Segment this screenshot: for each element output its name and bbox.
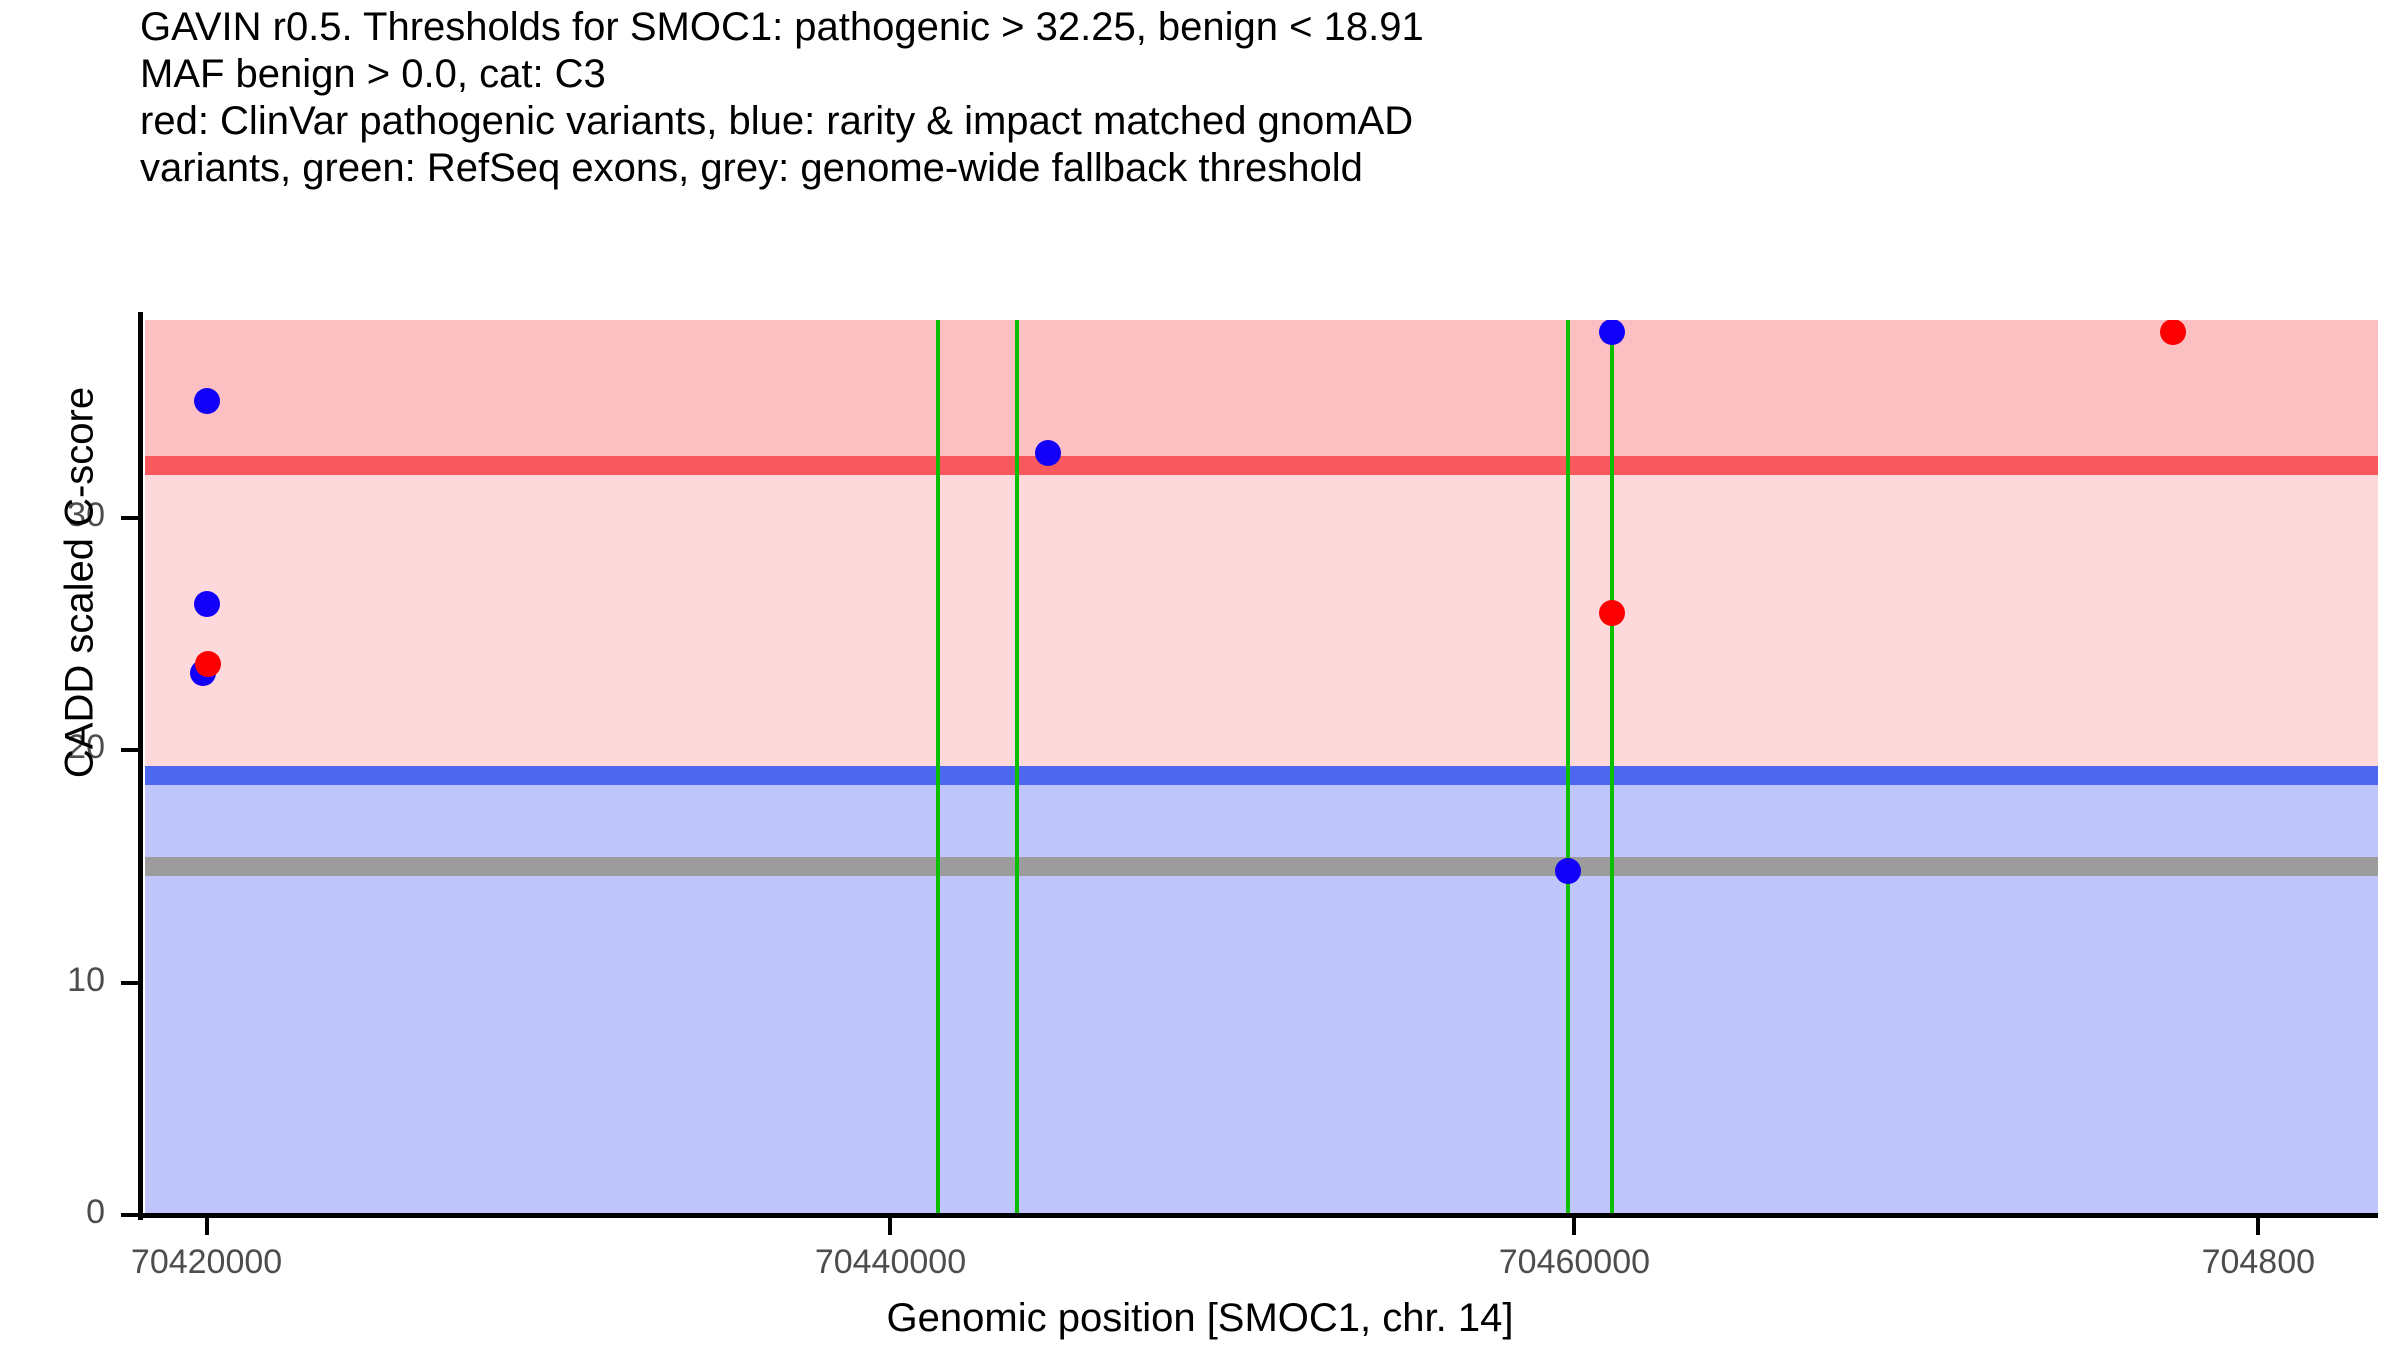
y-axis-title: CADD scaled C-score	[58, 203, 103, 963]
title-line-1: GAVIN r0.5. Thresholds for SMOC1: pathog…	[140, 4, 2380, 51]
x-axis-tick-label: 704800	[2058, 1243, 2400, 1282]
chart-root: GAVIN r0.5. Thresholds for SMOC1: pathog…	[0, 0, 2400, 1350]
y-axis-tick	[121, 516, 138, 520]
exon-line	[1610, 320, 1614, 1215]
x-axis-line	[138, 1213, 2378, 1218]
y-axis-tick	[121, 748, 138, 752]
gnomad-variant-point	[194, 591, 220, 617]
y-axis-line	[138, 312, 143, 1220]
band-vous	[145, 475, 2378, 785]
title-line-3: red: ClinVar pathogenic variants, blue: …	[140, 98, 2380, 145]
gnomad-variant-point	[1599, 320, 1625, 345]
gnomad-variant-point	[194, 388, 220, 414]
x-axis-tick-label: 70460000	[1374, 1243, 1774, 1282]
exon-line	[1015, 320, 1019, 1215]
exon-line	[1566, 320, 1570, 1215]
gnomad-variant-point	[1035, 440, 1061, 466]
exon-line	[936, 320, 940, 1215]
y-axis-tick	[121, 1213, 138, 1217]
chart-title-block: GAVIN r0.5. Thresholds for SMOC1: pathog…	[140, 4, 2380, 192]
y-axis-tick-label: 0	[0, 1193, 105, 1232]
fallback-threshold-line	[145, 857, 2378, 876]
title-line-4: variants, green: RefSeq exons, grey: gen…	[140, 145, 2380, 192]
y-axis-tick	[121, 981, 138, 985]
x-axis-tick	[205, 1218, 209, 1235]
x-axis-title: Genomic position [SMOC1, chr. 14]	[0, 1296, 2400, 1341]
clinvar-variant-point	[1599, 600, 1625, 626]
y-axis-tick-label: 10	[0, 961, 105, 1000]
title-line-2: MAF benign > 0.0, cat: C3	[140, 51, 2380, 98]
x-axis-tick	[2256, 1218, 2260, 1235]
x-axis-tick-label: 70420000	[7, 1243, 407, 1282]
x-axis-tick	[888, 1218, 892, 1235]
x-axis-tick	[1572, 1218, 1576, 1235]
gnomad-variant-point	[1555, 858, 1581, 884]
benign-threshold-line	[145, 766, 2378, 785]
band-pathogenic	[145, 320, 2378, 475]
x-axis-tick-label: 70440000	[690, 1243, 1090, 1282]
band-benign	[145, 785, 2378, 1215]
plot-panel	[145, 320, 2378, 1215]
clinvar-variant-point	[2160, 320, 2186, 345]
pathogenic-threshold-line	[145, 456, 2378, 475]
